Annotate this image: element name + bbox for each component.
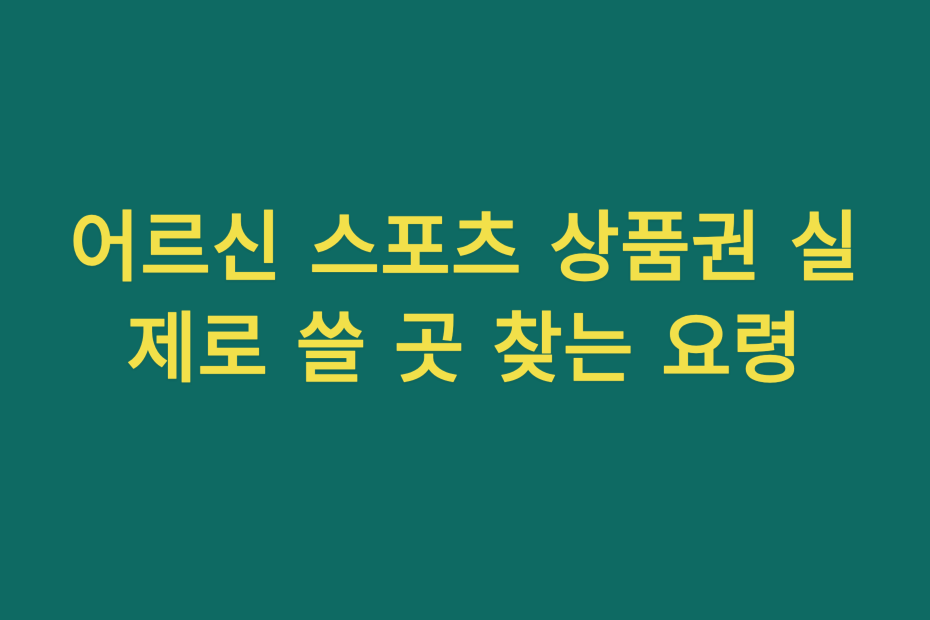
title-card: 어르신 스포츠 상품권 실 제로 쓸 곳 찾는 요령 [0, 0, 930, 620]
title-line-2: 제로 쓸 곳 찾는 요령 [40, 298, 890, 399]
title-text-block: 어르신 스포츠 상품권 실 제로 쓸 곳 찾는 요령 [0, 197, 930, 399]
title-line-1: 어르신 스포츠 상품권 실 [40, 197, 890, 298]
